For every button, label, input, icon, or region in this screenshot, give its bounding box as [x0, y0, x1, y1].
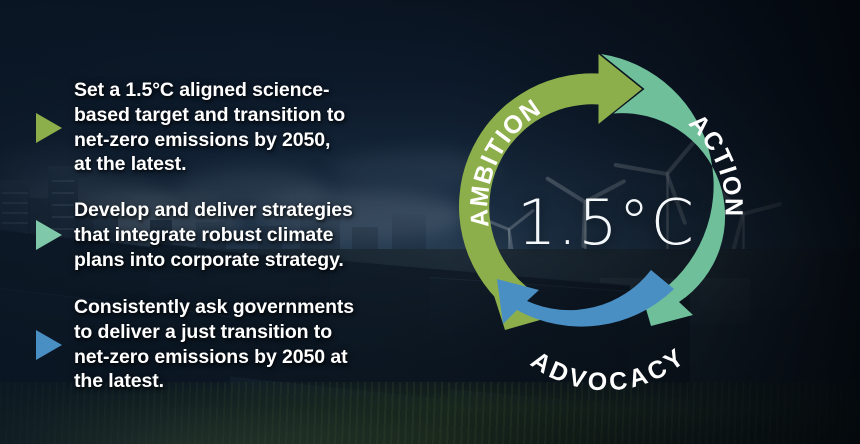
list-item: Set a 1.5°C aligned science- based targe…: [36, 78, 345, 177]
center-temperature-label: 1.5°C: [446, 186, 766, 259]
advocacy-label: ADVOCACY: [526, 342, 691, 396]
triangle-right-icon: [36, 330, 62, 360]
list-item: Consistently ask governments to deliver …: [36, 295, 354, 394]
ambition-action-advocacy-cycle: AMBITION ACTION ADVOCACY 1.5°C: [446, 34, 766, 414]
recommendations-list: Set a 1.5°C aligned science- based targe…: [0, 0, 440, 444]
list-item-text: Develop and deliver strategies that inte…: [74, 198, 353, 272]
triangle-right-icon: [36, 220, 62, 250]
list-item-text: Set a 1.5°C aligned science- based targe…: [74, 78, 345, 177]
triangle-right-icon: [36, 113, 62, 143]
infographic-canvas: Set a 1.5°C aligned science- based targe…: [0, 0, 860, 444]
cycle-segment-advocacy[interactable]: ADVOCACY: [497, 270, 691, 397]
list-item-text: Consistently ask governments to deliver …: [74, 295, 354, 394]
list-item: Develop and deliver strategies that inte…: [36, 198, 353, 272]
